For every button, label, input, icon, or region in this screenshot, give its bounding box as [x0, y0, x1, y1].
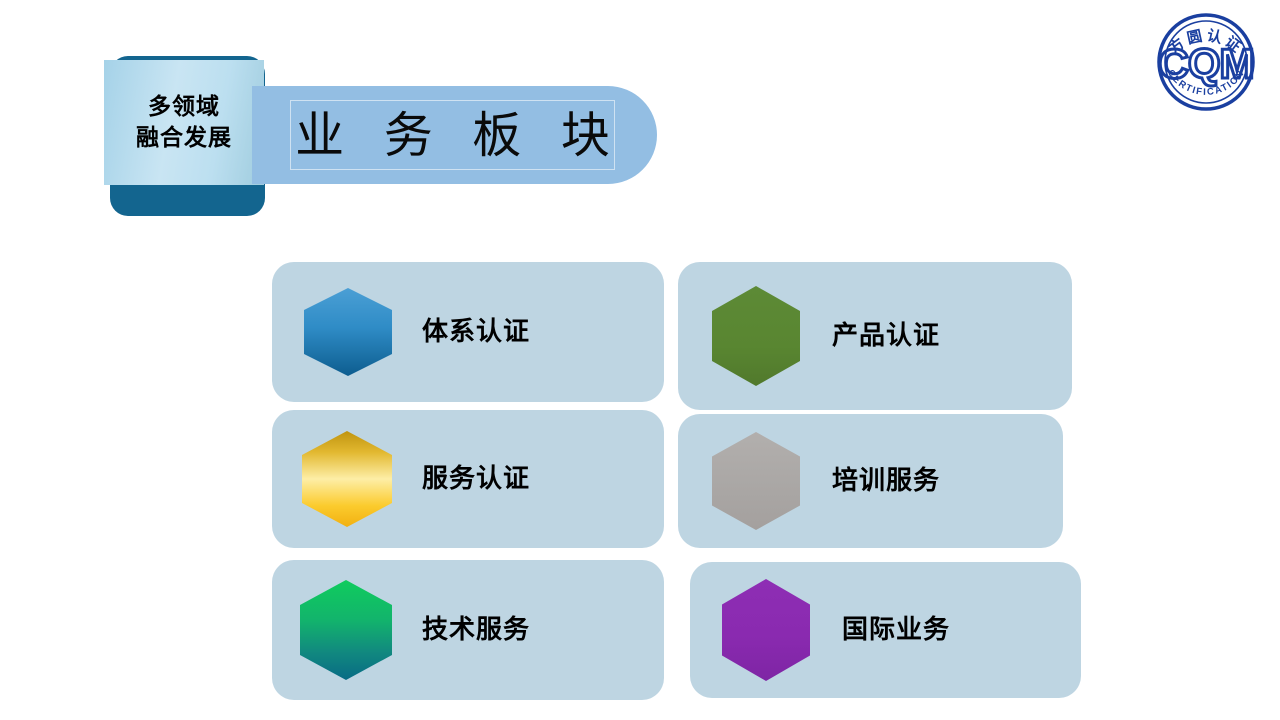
- hexagon-icon: [712, 286, 800, 386]
- card-label: 技术服务: [422, 617, 530, 643]
- hexagon-icon: [300, 580, 392, 680]
- card-label: 国际业务: [842, 617, 950, 643]
- hexagon-icon: [712, 432, 800, 530]
- card-label: 培训服务: [832, 468, 940, 494]
- hexagon-icon: [302, 431, 392, 527]
- card-label: 体系认证: [422, 319, 530, 345]
- card-training-service[interactable]: 培训服务: [678, 414, 1063, 548]
- card-label: 服务认证: [422, 466, 530, 492]
- hexagon-icon: [304, 288, 392, 376]
- card-service-certification[interactable]: 服务认证: [272, 410, 664, 548]
- card-label: 产品认证: [832, 323, 940, 349]
- card-international-business[interactable]: 国际业务: [690, 562, 1081, 698]
- card-technical-service[interactable]: 技术服务: [272, 560, 664, 700]
- card-product-certification[interactable]: 产品认证: [678, 262, 1072, 410]
- card-system-certification[interactable]: 体系认证: [272, 262, 664, 402]
- business-sections-grid: 体系认证 产品认证 服务认证 培训服务 技术服务 国际业务: [0, 0, 1280, 720]
- hexagon-icon: [722, 579, 810, 681]
